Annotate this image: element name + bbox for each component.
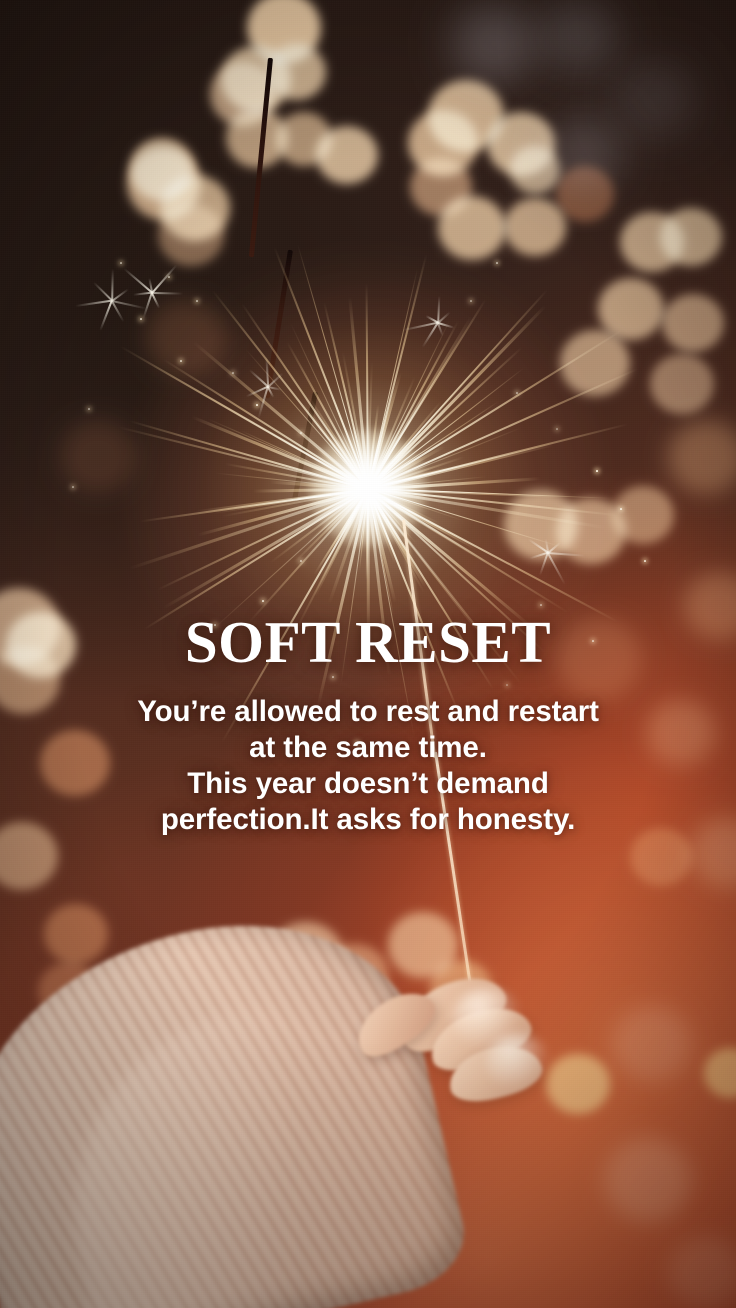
caption-block: SOFT RESET You’re allowed to rest and re… (0, 612, 736, 838)
body-line: perfection.It asks for honesty. (0, 802, 736, 838)
body-copy: You’re allowed to rest and restart at th… (0, 694, 736, 838)
page-title: SOFT RESET (0, 612, 736, 672)
poster-image: SOFT RESET You’re allowed to rest and re… (0, 0, 736, 1308)
body-line: You’re allowed to rest and restart (0, 694, 736, 730)
body-line: at the same time. (0, 730, 736, 766)
body-line: This year doesn’t demand (0, 766, 736, 802)
